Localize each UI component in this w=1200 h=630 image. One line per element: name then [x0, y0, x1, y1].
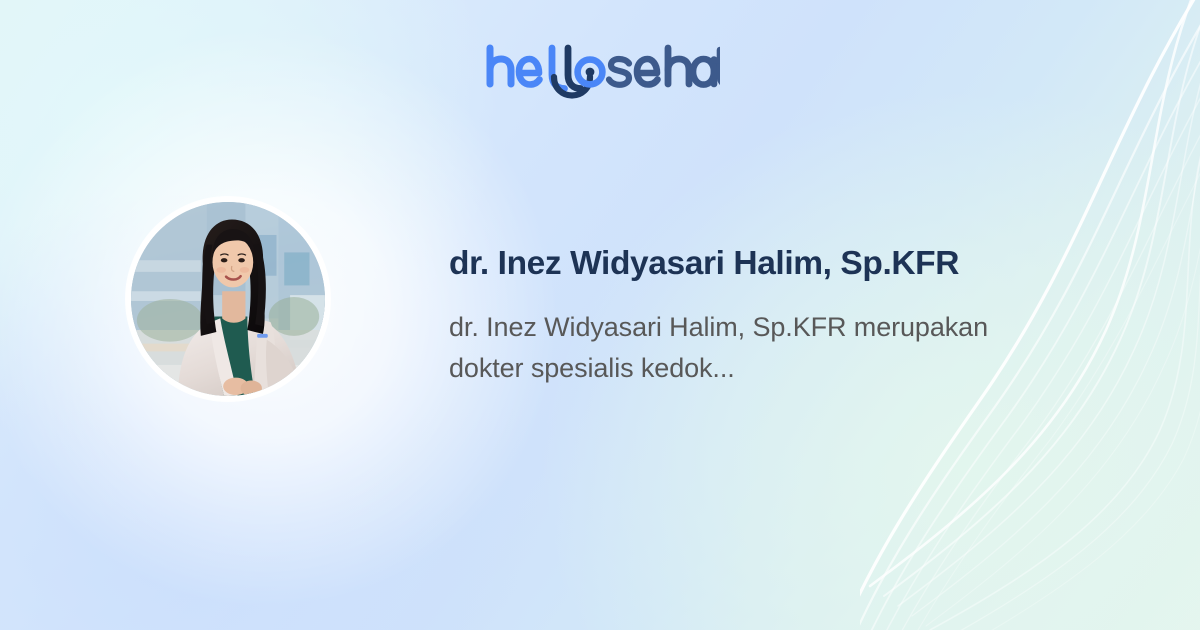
hellosehat-logo[interactable]	[484, 44, 720, 100]
doctor-info: dr. Inez Widyasari Halim, Sp.KFR dr. Ine…	[449, 243, 1049, 389]
og-share-card: dr. Inez Widyasari Halim, Sp.KFR dr. Ine…	[0, 0, 1200, 630]
page-title: dr. Inez Widyasari Halim, Sp.KFR	[449, 243, 1049, 285]
doctor-avatar	[126, 197, 330, 401]
doctor-photo	[131, 202, 325, 396]
doctor-description: dr. Inez Widyasari Halim, Sp.KFR merupak…	[449, 285, 989, 389]
